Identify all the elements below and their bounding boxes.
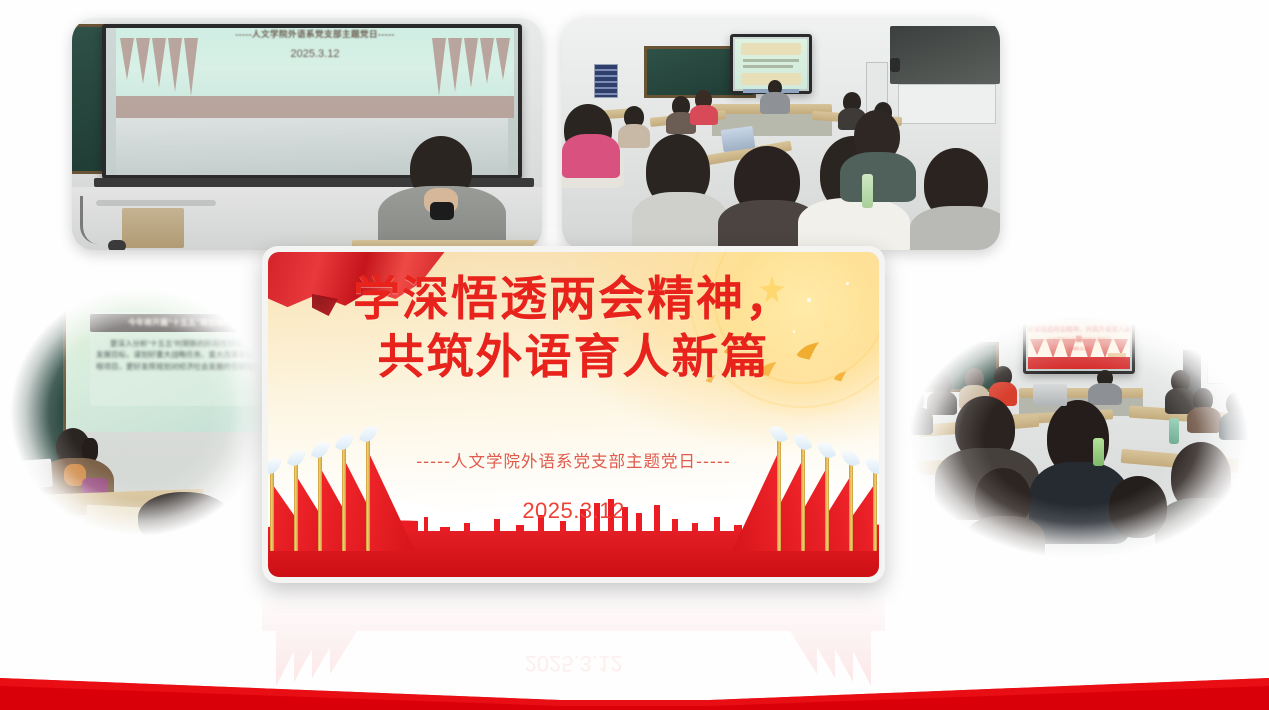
photo-bottom-right: 学深悟透两会精神，共筑外语育人新篇 -----人文学院外语系党支部主题党日---… [883, 292, 1269, 584]
photo-bottom-left: 维护国家安全和社会稳定 今年将开展“十五五”规划编制工作 要深入分析“十五五”时… [0, 262, 290, 562]
photo-bottom-left-slide: 维护国家安全和社会稳定 今年将开展“十五五”规划编制工作 要深入分析“十五五”时… [66, 270, 290, 432]
poster-card: 学深悟透两会精神， 共筑外语育人新篇 -----人文学院外语系党支部主题党日--… [262, 246, 885, 583]
photo-top-left-slide-subtitle: -----人文学院外语系党支部主题党日----- [116, 28, 514, 40]
photo-top-left-slide: -----人文学院外语系党支部主题党日----- 2025.3.12 [116, 28, 514, 118]
photo-bottom-left-slide-top-heading: 维护国家安全和社会稳定 [66, 274, 290, 284]
poster-subtitle: -----人文学院外语系党支部主题党日----- [268, 448, 879, 472]
poster-title-line-1: 学深悟透两会精神， [268, 276, 879, 325]
photo-top-right [562, 18, 1000, 250]
collage-canvas: -----人文学院外语系党支部主题党日----- 2025.3.12 [0, 0, 1269, 710]
photo-bottom-left-slide-heading: 今年将开展“十五五”规划编制工作 [90, 317, 286, 328]
photo-bottom-left-slide-body: 要深入分析“十五五”时期新的阶段性特征，科学确定发展目标，谋划好重大战略任务、重… [96, 338, 284, 372]
bottom-red-band [0, 672, 1269, 710]
photo-top-left-slide-date: 2025.3.12 [116, 48, 514, 60]
photo-top-left: -----人文学院外语系党支部主题党日----- 2025.3.12 [72, 18, 542, 250]
poster-date: 2025.3.12 [268, 498, 879, 524]
poster-title-line-2: 共筑外语育人新篇 [268, 334, 879, 383]
